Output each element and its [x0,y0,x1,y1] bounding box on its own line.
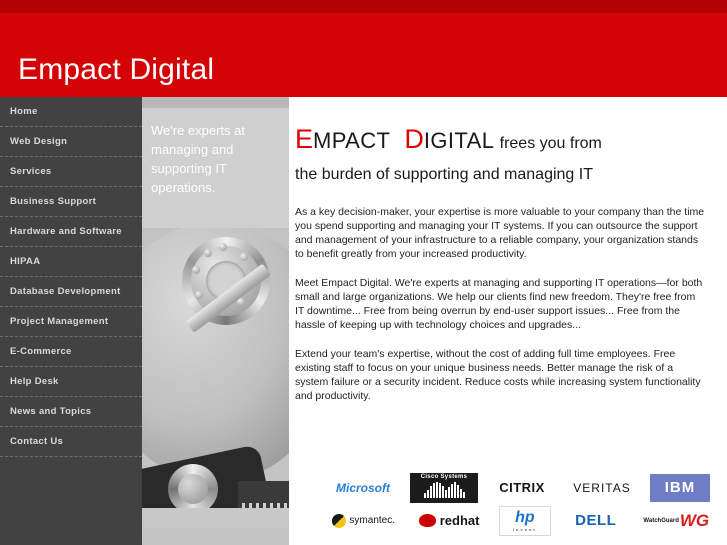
sidebar-item-hipaa[interactable]: HIPAA [0,247,142,277]
symantec-mark-icon [332,514,346,528]
watchguard-mark-icon: WG [680,511,709,531]
body-copy: As a key decision-maker, your expertise … [295,205,707,403]
dell-logo: DELL [563,508,629,534]
headline-drop-cap-d: D [404,124,424,154]
partner-logo-row-1: Microsoft Cisco Systems CITRIX VERITAS I… [328,471,712,504]
headline-line-two: the burden of supporting and managing IT [295,166,593,183]
hp-logo-tagline: invent [513,527,537,532]
hdd-actuator-hub-inner [178,474,208,504]
sidebar-item-e-commerce[interactable]: E-Commerce [0,337,142,367]
paragraph-2: Meet Empact Digital. We're experts at ma… [295,276,707,332]
headline-trailing: frees you from [500,135,602,152]
header-top-strip [0,0,727,13]
headline-drop-cap-e: E [295,124,313,154]
sidebar-item-database-development[interactable]: Database Development [0,277,142,307]
sidebar-item-services[interactable]: Services [0,157,142,187]
paragraph-1: As a key decision-maker, your expertise … [295,205,707,261]
sidebar-nav: Home Web Design Services Business Suppor… [0,97,142,545]
cisco-bridge-icon [424,482,465,498]
hard-drive-image [142,228,289,545]
site-title: Empact Digital [18,53,214,87]
sidebar-item-hardware-and-software[interactable]: Hardware and Software [0,217,142,247]
paragraph-3: Extend your team's expertise, without th… [295,347,707,403]
redhat-fedora-icon [419,514,436,527]
hdd-screw [204,249,212,257]
veritas-logo: VERITAS [566,475,638,501]
partner-logo-strip: Microsoft Cisco Systems CITRIX VERITAS I… [328,471,712,541]
ibm-logo: IBM [650,474,710,502]
page-headline: EMPACTDIGITAL frees you from the burden … [295,124,715,190]
hp-logo: hp invent [499,506,551,536]
hdd-screw [192,266,200,274]
microsoft-logo: Microsoft [328,475,398,501]
hdd-screw [240,253,248,261]
redhat-logo: redhat [411,508,486,534]
redhat-logo-label: redhat [440,513,480,528]
tagline-column: We're experts at managing and supporting… [142,97,289,545]
sidebar-item-home[interactable]: Home [0,97,142,127]
partner-logo-row-2: symantec. redhat hp invent DELL WatchGua… [328,504,712,537]
sidebar-item-project-management[interactable]: Project Management [0,307,142,337]
symantec-logo-label: symantec. [349,515,395,526]
page-root: Empact Digital Home Web Design Services … [0,0,727,545]
headline-brand-empact: MPACT [313,128,390,153]
sidebar-item-business-support[interactable]: Business Support [0,187,142,217]
site-header: Empact Digital [0,13,727,97]
hp-logo-label: hp [515,509,535,527]
tagline-text: We're experts at managing and supporting… [151,121,276,197]
cisco-logo-label: Cisco Systems [421,474,468,480]
hdd-screw [219,243,227,251]
sidebar-item-web-design[interactable]: Web Design [0,127,142,157]
citrix-logo: CITRIX [490,475,554,501]
headline-brand-digital: IGITAL [424,128,494,153]
cisco-systems-logo: Cisco Systems [410,473,478,503]
hdd-chassis-lower [142,508,289,545]
hdd-screw [195,291,203,299]
tagline-column-top-strip [142,97,289,108]
watchguard-logo-label: WatchGuard [643,518,678,524]
symantec-logo: symantec. [328,508,399,534]
sidebar-item-help-desk[interactable]: Help Desk [0,367,142,397]
sidebar-item-contact-us[interactable]: Contact Us [0,427,142,457]
sidebar-item-news-and-topics[interactable]: News and Topics [0,397,142,427]
watchguard-logo: WatchGuard WG [641,508,712,534]
